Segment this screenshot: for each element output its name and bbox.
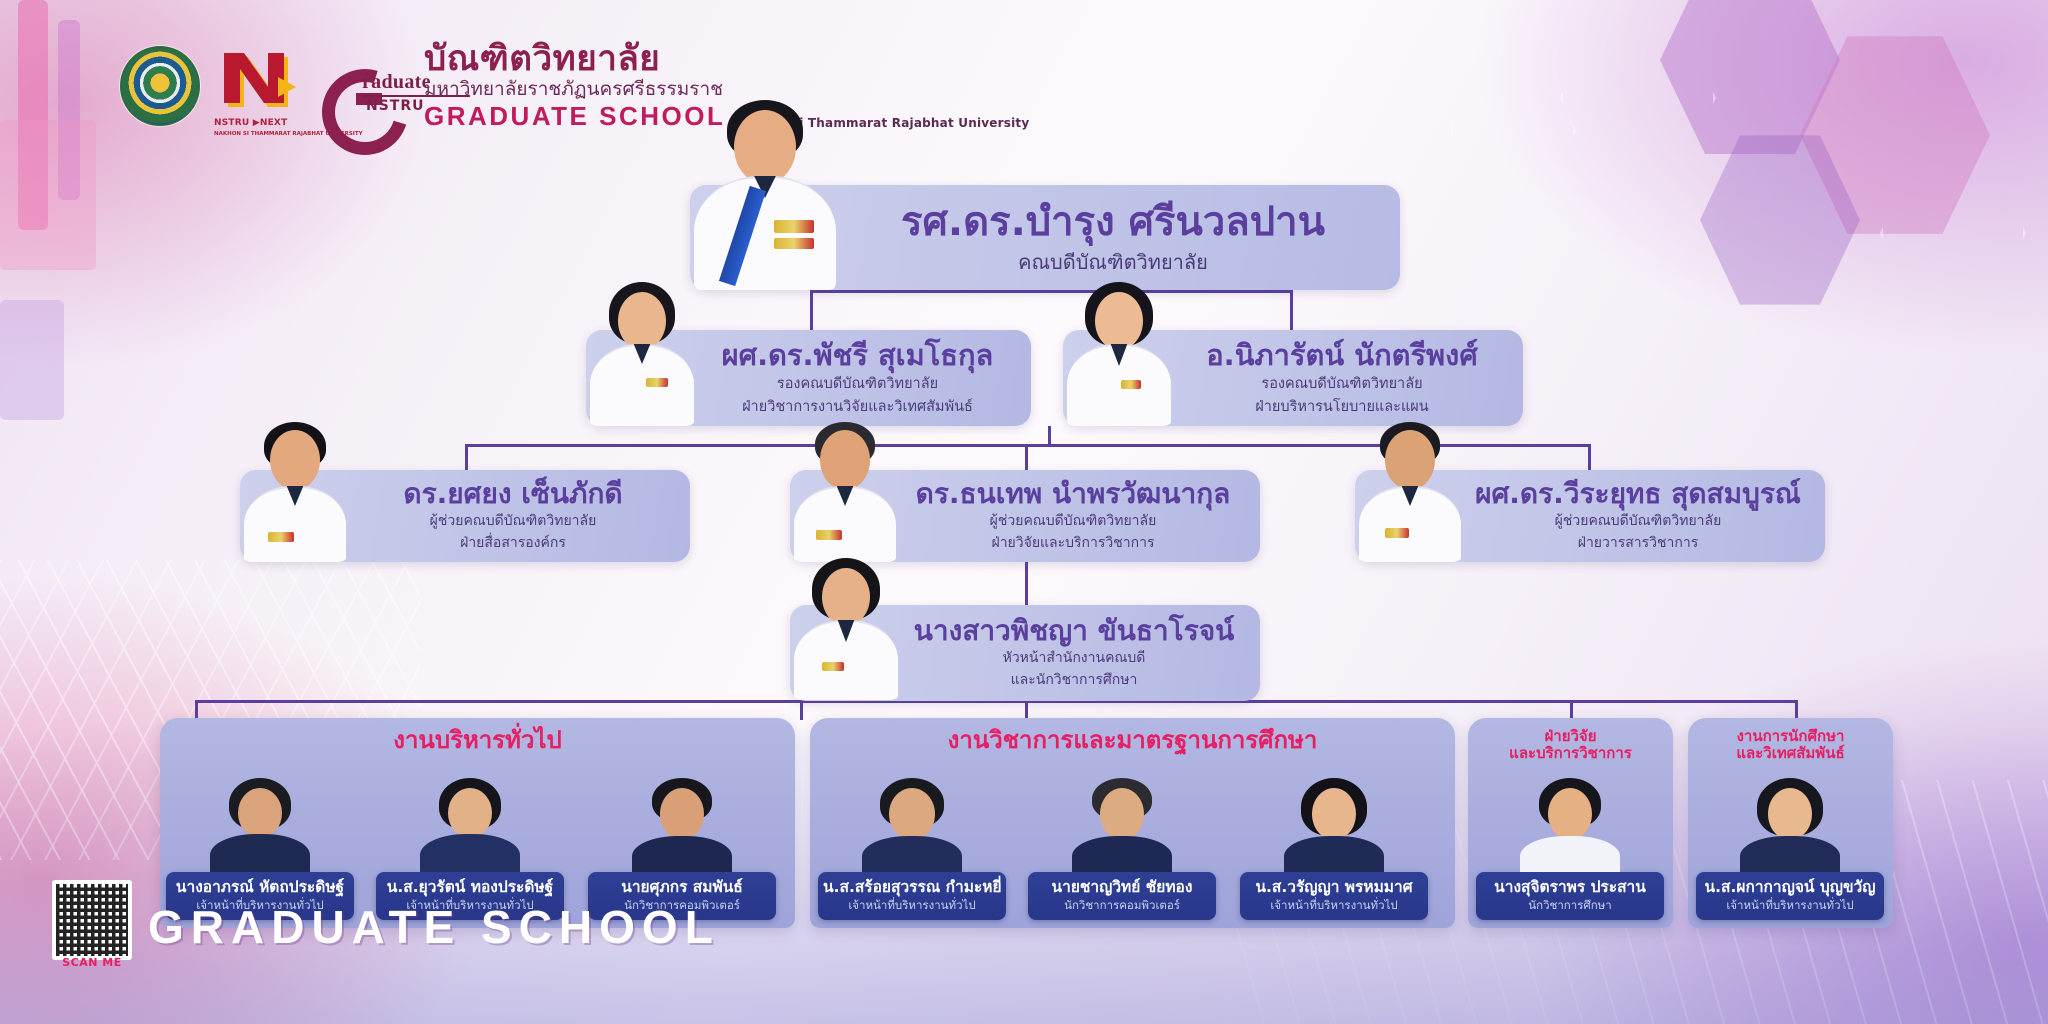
staff-photo bbox=[1726, 776, 1854, 872]
staff-role: เจ้าหน้าที่บริหารงานทั่วไป bbox=[823, 899, 1001, 912]
staff-photo bbox=[406, 776, 534, 872]
connector bbox=[1795, 700, 1798, 720]
assistant-dean-3-role-2: ฝ่ายวารสารวิชาการ bbox=[1465, 535, 1811, 553]
assistant-dean-2-role-2: ฝ่ายวิจัยและบริการวิชาการ bbox=[900, 535, 1246, 553]
staff-photo bbox=[1506, 776, 1634, 872]
org-node-office-head[interactable]: นางสาวพิชญา ขันธาโรจน์ หัวหน้าสำนักงานคณ… bbox=[790, 605, 1260, 701]
staff-name: น.ส.ผกากาญจน์ บุญขวัญ bbox=[1701, 879, 1879, 896]
org-node-assistant-dean-2[interactable]: ดร.ธนเทพ นำพรวัฒนากุล ผู้ช่วยคณบดีบัณฑิต… bbox=[790, 470, 1260, 562]
staff-card[interactable]: น.ส.ผกากาญจน์ บุญขวัญ เจ้าหน้าที่บริหารง… bbox=[1696, 776, 1884, 920]
assistant-dean-2-name: ดร.ธนเทพ นำพรวัฒนากุล bbox=[900, 479, 1246, 510]
connector bbox=[195, 700, 198, 720]
group-academic-title: งานวิชาการและมาตรฐานการศึกษา bbox=[810, 718, 1455, 754]
connector bbox=[1570, 700, 1573, 720]
assistant-dean-1-photo bbox=[240, 414, 350, 562]
staff-name: นายชาญวิทย์ ชัยทอง bbox=[1033, 879, 1211, 896]
org-node-dean[interactable]: รศ.ดร.บำรุง ศรีนวลปาน คณบดีบัณฑิตวิทยาลั… bbox=[690, 185, 1400, 290]
connector bbox=[800, 700, 803, 720]
vice-dean-2-name: อ.นิภารัตน์ นักตรีพงศ์ bbox=[1175, 340, 1509, 372]
staff-photo bbox=[618, 776, 746, 872]
staff-photo bbox=[848, 776, 976, 872]
vice-dean-1-photo bbox=[586, 274, 698, 426]
org-node-vice-dean-1[interactable]: ผศ.ดร.พัชรี สุเมโธกุล รองคณบดีบัณฑิตวิทย… bbox=[586, 330, 1031, 426]
staff-photo bbox=[196, 776, 324, 872]
connector bbox=[810, 290, 813, 330]
dean-role: คณบดีบัณฑิตวิทยาลัย bbox=[840, 250, 1386, 276]
org-chart: รศ.ดร.บำรุง ศรีนวลปาน คณบดีบัณฑิตวิทยาลั… bbox=[0, 0, 2048, 1024]
vice-dean-2-photo bbox=[1063, 274, 1175, 426]
connector bbox=[465, 444, 468, 470]
connector bbox=[810, 290, 1293, 293]
scan-me-label: SCAN ME bbox=[52, 956, 132, 969]
org-node-vice-dean-2[interactable]: อ.นิภารัตน์ นักตรีพงศ์ รองคณบดีบัณฑิตวิท… bbox=[1063, 330, 1523, 426]
staff-card[interactable]: นายศุภกร สมพันธ์ นักวิชาการคอมพิวเตอร์ bbox=[588, 776, 776, 920]
group-research-title-2: และบริการวิชาการ bbox=[1468, 745, 1673, 762]
connector bbox=[1048, 426, 1051, 444]
staff-name: น.ส.วรัญญา พรหมมาศ bbox=[1245, 879, 1423, 896]
staff-card[interactable]: น.ส.ยุวรัตน์ ทองประดิษฐ์ เจ้าหน้าที่บริห… bbox=[376, 776, 564, 920]
vice-dean-1-name: ผศ.ดร.พัชรี สุเมโธกุล bbox=[698, 340, 1017, 372]
group-student-title-2: และวิเทศสัมพันธ์ bbox=[1688, 745, 1893, 762]
staff-name: นายศุภกร สมพันธ์ bbox=[593, 879, 771, 896]
office-head-photo bbox=[790, 550, 902, 700]
connector bbox=[1290, 290, 1293, 330]
connector bbox=[1025, 444, 1028, 470]
staff-card[interactable]: นายชาญวิทย์ ชัยทอง นักวิชาการคอมพิวเตอร์ bbox=[1028, 776, 1216, 920]
vice-dean-2-role-1: รองคณบดีบัณฑิตวิทยาลัย bbox=[1175, 375, 1509, 394]
staff-role: เจ้าหน้าที่บริหารงานทั่วไป bbox=[1245, 899, 1423, 912]
staff-role: เจ้าหน้าที่บริหารงานทั่วไป bbox=[1701, 899, 1879, 912]
assistant-dean-3-role-1: ผู้ช่วยคณบดีบัณฑิตวิทยาลัย bbox=[1465, 513, 1811, 531]
footer-wordmark: GRADUATE SCHOOL bbox=[148, 900, 720, 954]
assistant-dean-1-name: ดร.ยศยง เซ็นภักดี bbox=[350, 479, 676, 510]
vice-dean-1-role-1: รองคณบดีบัณฑิตวิทยาลัย bbox=[698, 375, 1017, 394]
staff-card[interactable]: น.ส.วรัญญา พรหมมาศ เจ้าหน้าที่บริหารงานท… bbox=[1240, 776, 1428, 920]
staff-card[interactable]: น.ส.สร้อยสุวรรณ กำมะหยี่ เจ้าหน้าที่บริห… bbox=[818, 776, 1006, 920]
group-research-title-1: ฝ่ายวิจัย bbox=[1468, 718, 1673, 745]
dean-name: รศ.ดร.บำรุง ศรีนวลปาน bbox=[840, 200, 1386, 244]
staff-card[interactable]: นางสุจิตราพร ประสาน นักวิชาการศึกษา bbox=[1476, 776, 1664, 920]
office-head-name: นางสาวพิชญา ขันธาโรจน์ bbox=[902, 616, 1246, 647]
connector bbox=[1025, 701, 1028, 719]
office-head-role-1: หัวหน้าสำนักงานคณบดี bbox=[902, 650, 1246, 668]
staff-role: นักวิชาการคอมพิวเตอร์ bbox=[1033, 899, 1211, 912]
staff-role: นักวิชาการศึกษา bbox=[1481, 899, 1659, 912]
group-student-title-1: งานการนักศึกษา bbox=[1688, 718, 1893, 745]
assistant-dean-1-role-2: ฝ่ายสื่อสารองค์กร bbox=[350, 535, 676, 553]
staff-card[interactable]: นางอาภรณ์ หัตถประดิษฐ์ เจ้าหน้าที่บริหาร… bbox=[166, 776, 354, 920]
staff-name: น.ส.ยุวรัตน์ ทองประดิษฐ์ bbox=[381, 879, 559, 896]
qr-code-icon[interactable] bbox=[52, 880, 132, 960]
org-node-assistant-dean-3[interactable]: ผศ.ดร.วีระยุทธ สุดสมบูรณ์ ผู้ช่วยคณบดีบั… bbox=[1355, 470, 1825, 562]
office-head-role-2: และนักวิชาการศึกษา bbox=[902, 672, 1246, 690]
assistant-dean-3-photo bbox=[1355, 414, 1465, 562]
assistant-dean-1-role-1: ผู้ช่วยคณบดีบัณฑิตวิทยาลัย bbox=[350, 513, 676, 531]
connector bbox=[1588, 444, 1591, 470]
staff-name: นางสุจิตราพร ประสาน bbox=[1481, 879, 1659, 896]
staff-name: น.ส.สร้อยสุวรรณ กำมะหยี่ bbox=[823, 879, 1001, 896]
group-admin-title: งานบริหารทั่วไป bbox=[160, 718, 795, 754]
org-node-assistant-dean-1[interactable]: ดร.ยศยง เซ็นภักดี ผู้ช่วยคณบดีบัณฑิตวิทย… bbox=[240, 470, 690, 562]
connector bbox=[1025, 562, 1028, 605]
assistant-dean-3-name: ผศ.ดร.วีระยุทธ สุดสมบูรณ์ bbox=[1465, 479, 1811, 510]
dean-photo bbox=[690, 90, 840, 290]
staff-name: นางอาภรณ์ หัตถประดิษฐ์ bbox=[171, 879, 349, 896]
assistant-dean-2-photo bbox=[790, 414, 900, 562]
staff-photo bbox=[1058, 776, 1186, 872]
assistant-dean-2-role-1: ผู้ช่วยคณบดีบัณฑิตวิทยาลัย bbox=[900, 513, 1246, 531]
staff-photo bbox=[1270, 776, 1398, 872]
